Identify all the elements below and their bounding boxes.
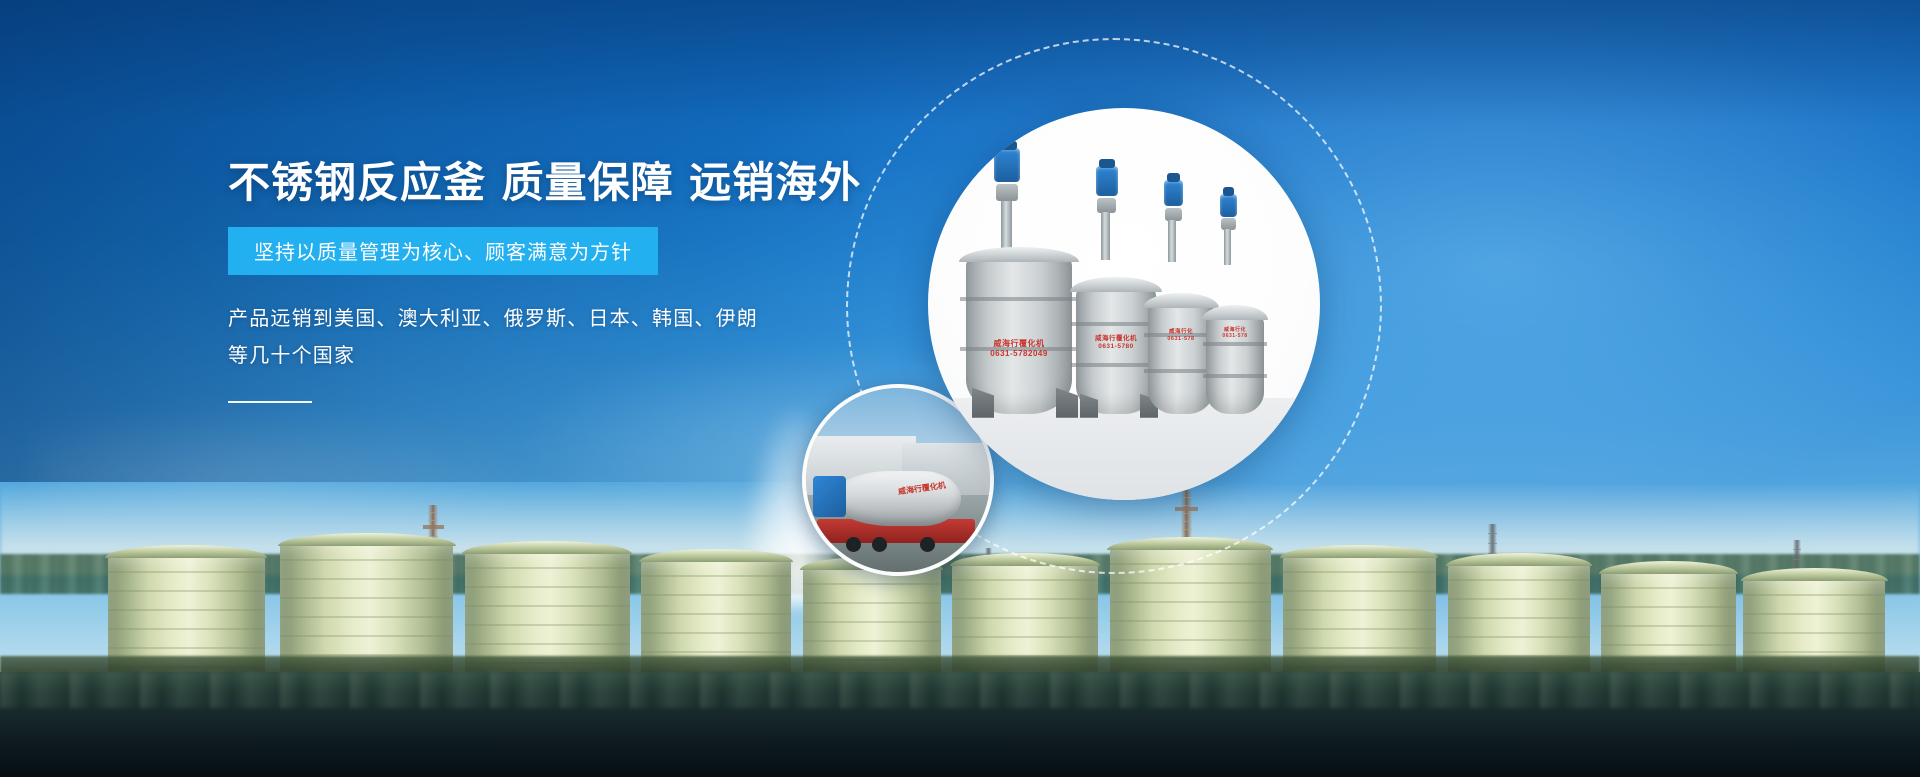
banner-copy: 不锈钢反应釜 质量保障 远销海外 坚持以质量管理为核心、顾客满意为方针 产品远销…	[228, 160, 868, 403]
reactor-brand-label: 威海行覆化机0631-5782049	[966, 339, 1072, 359]
water-foreground	[0, 672, 1920, 777]
banner-description-line-2: 等几十个国家	[228, 338, 868, 375]
water-reflection	[0, 672, 1920, 708]
banner-description: 产品远销到美国、澳大利亚、俄罗斯、日本、韩国、伊朗 等几十个国家	[228, 301, 868, 375]
hero-banner: 威海行覆化机 威海行覆化机0631-5782049	[0, 0, 1920, 777]
reactor-shaft	[1224, 229, 1231, 265]
reactor-band	[1203, 374, 1268, 378]
reactor-band	[960, 297, 1079, 301]
reactor-motor	[1220, 194, 1237, 217]
banner-slogan-pill: 坚持以质量管理为核心、顾客满意为方针	[228, 227, 658, 275]
reactor-shaft	[1168, 220, 1176, 262]
reactor-gearbox	[996, 184, 1018, 201]
reactor-gearbox	[1097, 198, 1116, 213]
reactor-support-leg	[1056, 388, 1078, 418]
main-product-photo[interactable]: 威海行覆化机0631-5782049 威海行覆化机0631-5780	[928, 108, 1320, 500]
photo-small-wheel	[872, 537, 887, 552]
banner-divider-rule	[228, 401, 312, 403]
reactor-lid	[1070, 277, 1161, 292]
reactor-motor	[994, 148, 1020, 182]
photo-small-vessel-nozzle	[813, 476, 846, 516]
reactor-lid	[959, 247, 1080, 262]
photo-small-wheel	[920, 537, 935, 552]
reactor-band	[1203, 342, 1268, 346]
storage-tank	[280, 542, 453, 674]
reactor-shaft	[1101, 212, 1110, 260]
banner-headline: 不锈钢反应釜 质量保障 远销海外	[228, 160, 868, 205]
banner-description-line-1: 产品远销到美国、澳大利亚、俄罗斯、日本、韩国、伊朗	[228, 301, 868, 338]
reactor-brand-label: 威海行覆化机0631-5780	[1076, 335, 1156, 351]
reactor-motor	[1164, 180, 1183, 206]
reactor-brand-label: 威海行化0631-578	[1206, 327, 1264, 340]
reactor-motor	[1096, 166, 1118, 196]
reactor-shaft	[1001, 201, 1012, 253]
